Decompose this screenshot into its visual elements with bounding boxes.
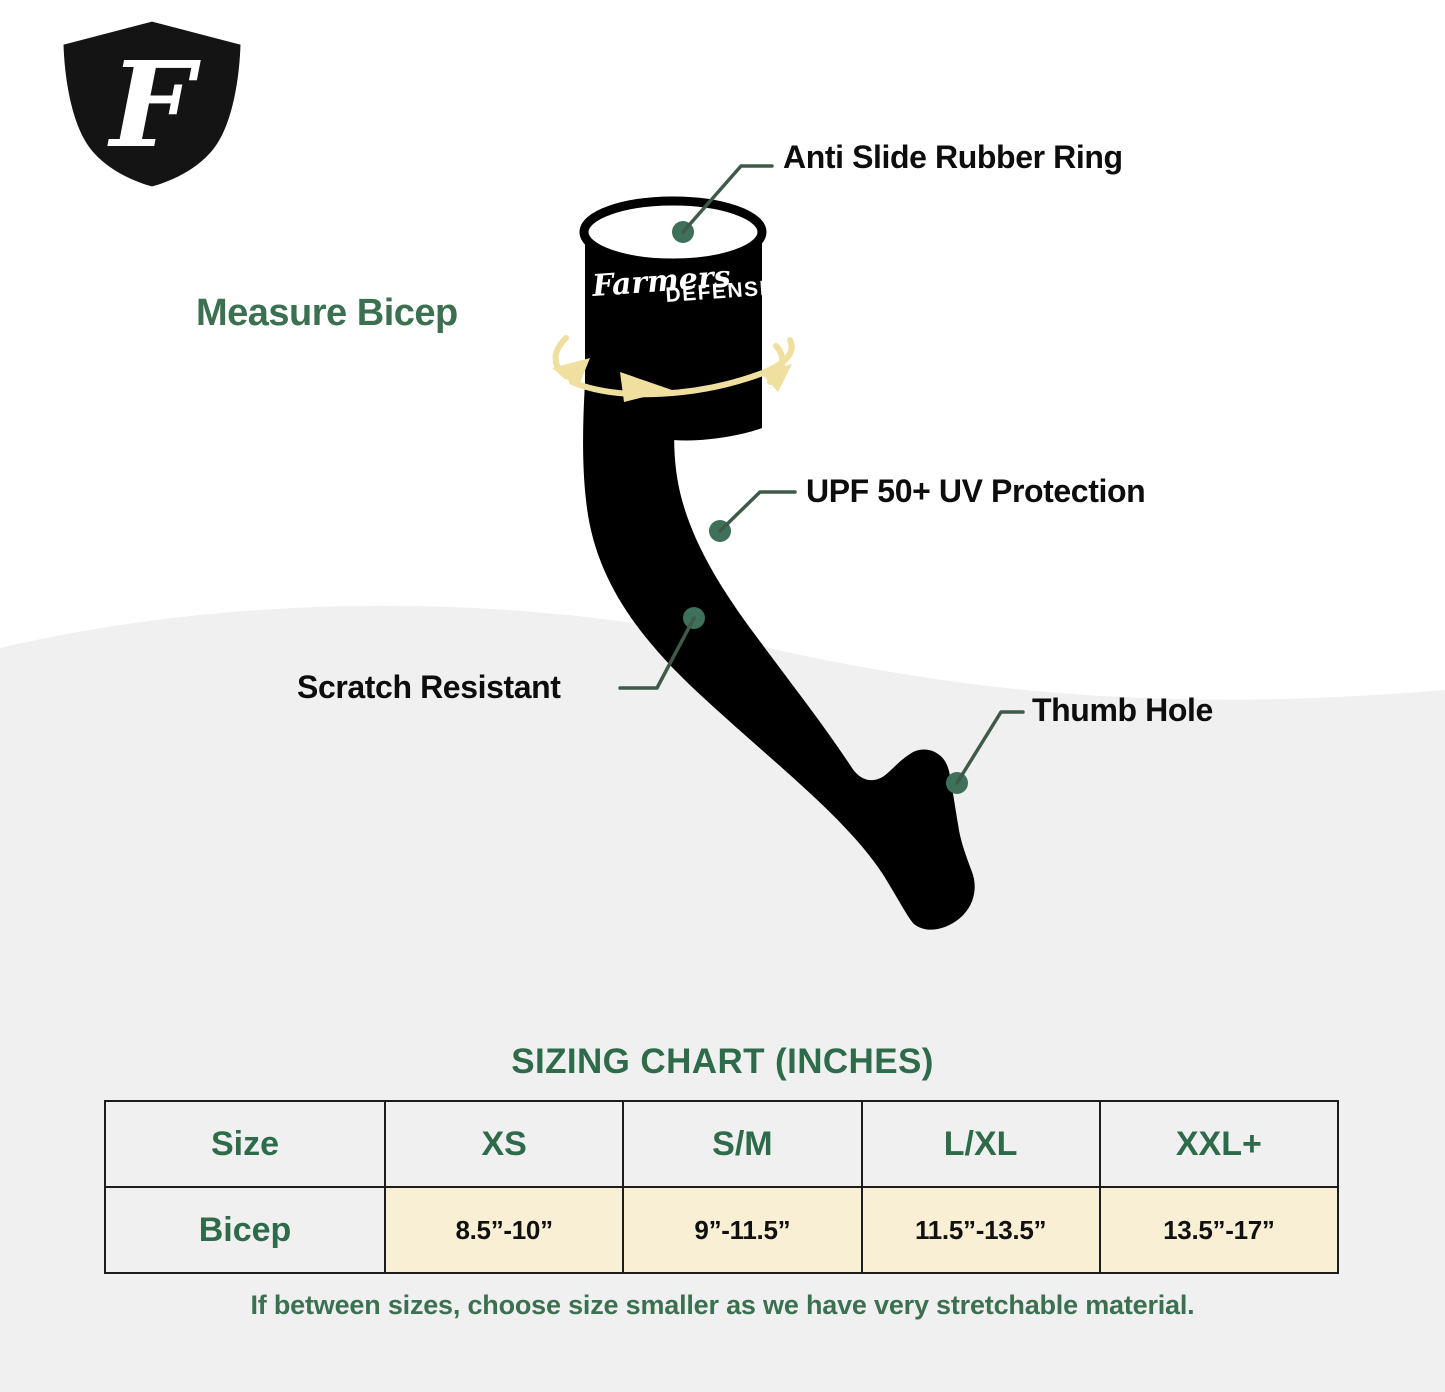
measure-bicep-label: Measure Bicep [196, 292, 458, 335]
header-cell-lxl: L/XL [862, 1101, 1100, 1187]
cell-bicep-sm: 9”-11.5” [623, 1187, 861, 1273]
sizing-chart-title: SIZING CHART (INCHES) [0, 1042, 1445, 1082]
cell-bicep-xs: 8.5”-10” [385, 1187, 623, 1273]
header-cell-xxl: XXL+ [1100, 1101, 1338, 1187]
callout-label-scratch-resistant: Scratch Resistant [297, 669, 561, 706]
product-infographic: F Farmers DEFENSE [0, 0, 1445, 1392]
header-cell-sm: S/M [623, 1101, 861, 1187]
svg-text:F: F [107, 35, 201, 174]
cell-bicep-lxl: 11.5”-13.5” [862, 1187, 1100, 1273]
row-label-bicep: Bicep [105, 1187, 385, 1273]
callout-label-anti-slide-rubber-ring: Anti Slide Rubber Ring [783, 139, 1123, 176]
callout-label-thumb-hole: Thumb Hole [1032, 692, 1213, 729]
header-cell-size: Size [105, 1101, 385, 1187]
callout-label-upf-uv-protection: UPF 50+ UV Protection [806, 473, 1145, 510]
table-row: Bicep 8.5”-10” 9”-11.5” 11.5”-13.5” 13.5… [105, 1187, 1338, 1273]
header-cell-xs: XS [385, 1101, 623, 1187]
table-header-row: Size XS S/M L/XL XXL+ [105, 1101, 1338, 1187]
sizing-chart-note: If between sizes, choose size smaller as… [0, 1290, 1445, 1321]
sizing-chart-table: Size XS S/M L/XL XXL+ Bicep 8.5”-10” 9”-… [104, 1100, 1339, 1274]
shield-f-logo-icon: F [52, 14, 252, 194]
cell-bicep-xxl: 13.5”-17” [1100, 1187, 1338, 1273]
